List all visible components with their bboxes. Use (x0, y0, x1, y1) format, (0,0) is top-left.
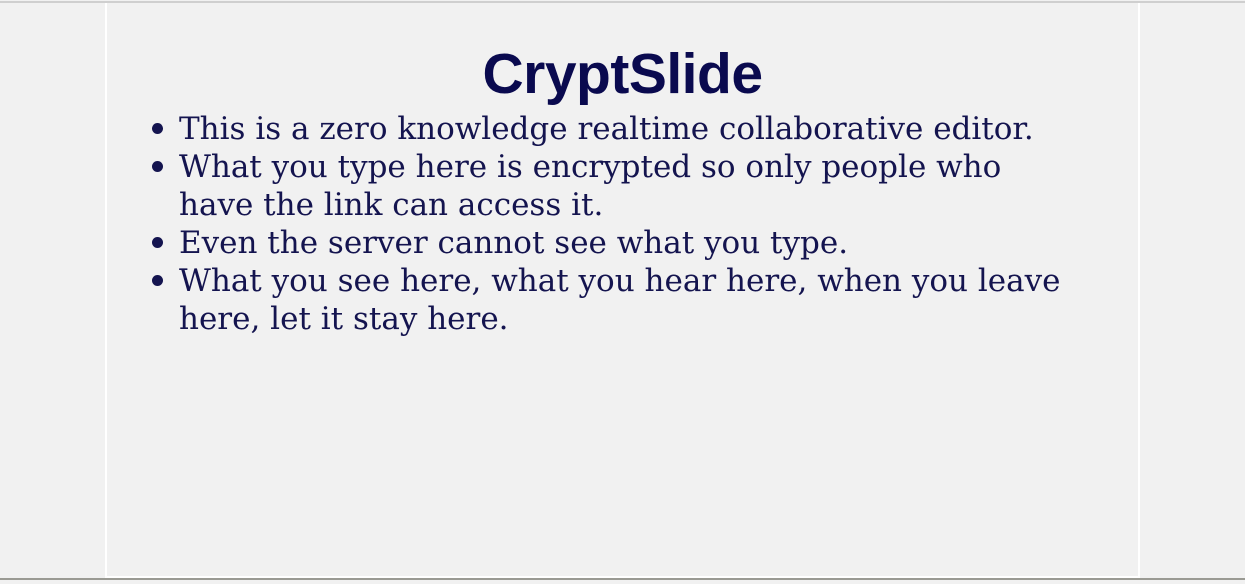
bullet-point-icon (152, 161, 163, 172)
bullet-item-label: This is a zero knowledge realtime collab… (179, 110, 1078, 148)
bottom-divider-rule (0, 578, 1245, 580)
bullet-list: This is a zero knowledge realtime collab… (107, 110, 1138, 338)
bullet-item-2[interactable]: What you type here is encrypted so only … (107, 148, 1138, 224)
bullet-point-icon (152, 237, 163, 248)
bullet-item-label: What you type here is encrypted so only … (179, 148, 1078, 224)
bullet-item-label: Even the server cannot see what you type… (179, 224, 1078, 262)
slide-title[interactable]: CryptSlide (107, 3, 1138, 105)
bullet-point-icon (152, 275, 163, 286)
bullet-item-4[interactable]: What you see here, what you hear here, w… (107, 262, 1138, 338)
bullet-item-label: What you see here, what you hear here, w… (179, 262, 1078, 338)
bullet-item-3[interactable]: Even the server cannot see what you type… (107, 224, 1138, 262)
bullet-point-icon (152, 123, 163, 134)
bullet-item-1[interactable]: This is a zero knowledge realtime collab… (107, 110, 1138, 148)
slide-canvas[interactable]: CryptSlide This is a zero knowledge real… (105, 3, 1140, 578)
slide-body[interactable]: This is a zero knowledge realtime collab… (107, 105, 1138, 338)
